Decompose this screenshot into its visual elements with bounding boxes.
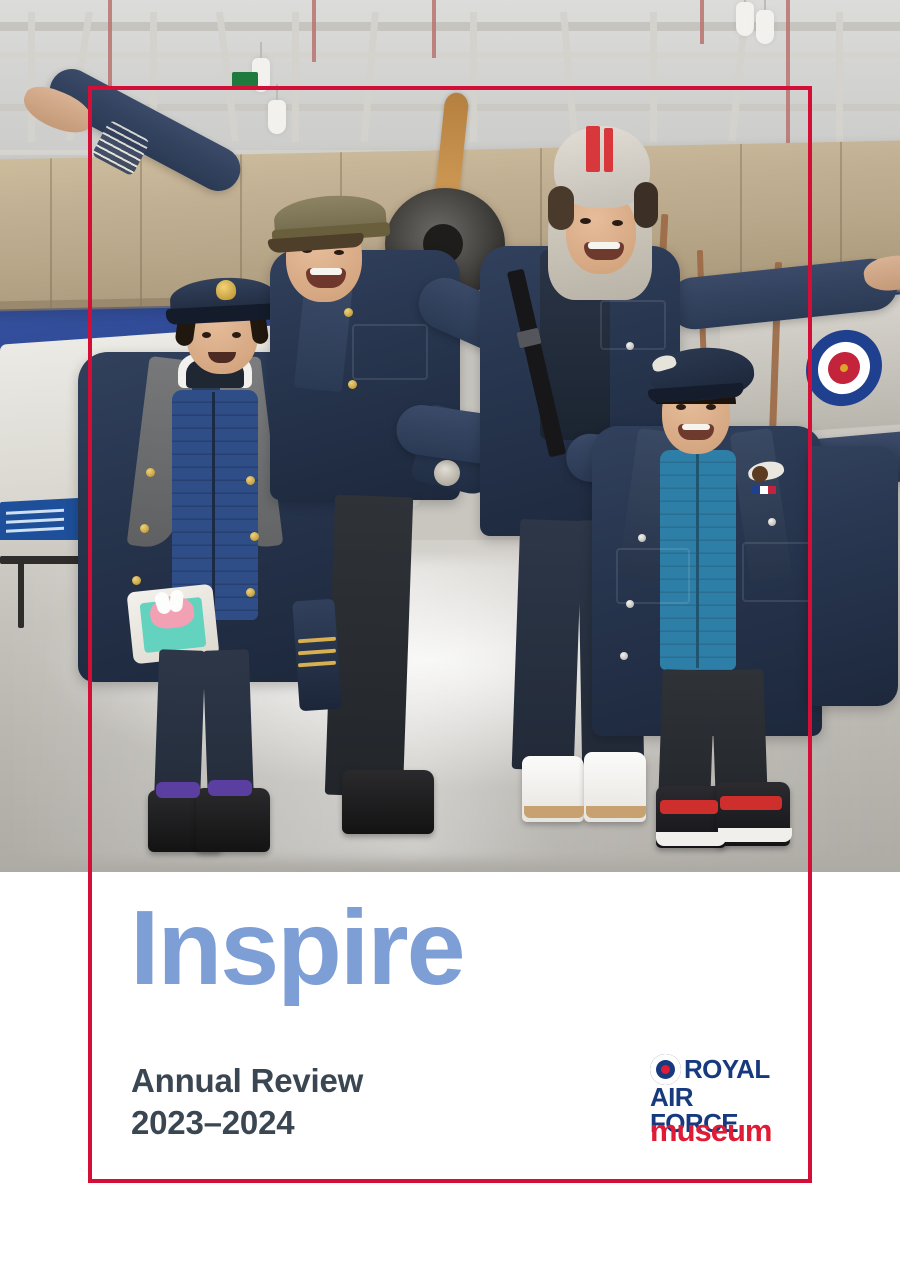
subtitle-line-1: Annual Review bbox=[131, 1060, 363, 1102]
cover-photograph bbox=[0, 0, 900, 872]
raf-roundel-icon bbox=[650, 1054, 681, 1085]
hangar-lamp-icon bbox=[756, 10, 774, 44]
exit-sign bbox=[232, 72, 258, 87]
annual-review-cover: Inspire Annual Review 2023–2024 ROYAL AI… bbox=[0, 0, 900, 1272]
logo-line-museum: museum bbox=[650, 1115, 771, 1146]
logo-line-royal: ROYAL bbox=[684, 1056, 770, 1082]
page-subtitle: Annual Review 2023–2024 bbox=[131, 1060, 363, 1144]
subtitle-line-2: 2023–2024 bbox=[131, 1102, 363, 1144]
hangar-lamp-icon bbox=[268, 100, 286, 134]
page-title: Inspire bbox=[130, 895, 464, 1001]
hangar-lamp-icon bbox=[736, 2, 754, 36]
raf-museum-logo: ROYAL AIR FORCE museum bbox=[650, 1053, 786, 1153]
